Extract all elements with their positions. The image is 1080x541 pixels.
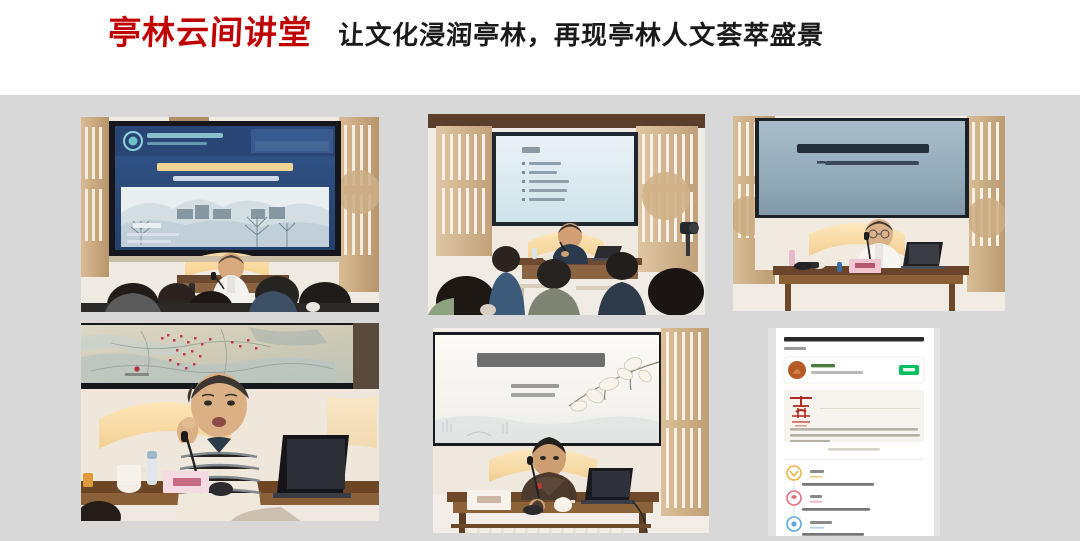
photo-illustration xyxy=(428,114,705,315)
page-tagline: 让文化浸润亭林，再现亭林人文荟萃盛景 xyxy=(337,23,824,49)
photo-gallery: 讲堂现场：大屏幕投影讲座标题，主讲人坐于讲台前，听众背影在前排 xyxy=(0,95,1080,541)
lecture-photo-speaker-closeup: 讲堂现场特写：主讲人手势讲解，身后屏幕显示江南地区古地图 xyxy=(81,323,379,521)
header-inner: 亭林云间讲堂 让文化浸润亭林，再现亭林人文荟萃盛景 xyxy=(108,16,824,49)
lecture-photo-wuyue-haipai: 讲堂现场：主讲人坐于讲台，桌上摆放笔记本电脑与名牌，大屏显示讲座标题 xyxy=(733,116,1005,311)
lecture-photo-jiangnan-ancient-town: 讲堂现场：大屏幕投影讲座标题，主讲人坐于讲台前，听众背影在前排 xyxy=(81,117,379,312)
lecture-photo-classical-poetry: 讲堂现场：主讲人坐于讲台讲解，大屏显示白底水墨玉兰花讲座封面 xyxy=(433,328,709,533)
photo-illustration xyxy=(433,328,709,533)
slide-page: 亭林云间讲堂 让文化浸润亭林，再现亭林人文荟萃盛景 讲堂现场：大屏幕投影讲座标题… xyxy=(0,0,1080,541)
photo-illustration xyxy=(81,323,379,521)
photo-illustration xyxy=(733,116,1005,311)
photo-illustration xyxy=(81,117,379,312)
page-header: 亭林云间讲堂 让文化浸润亭林，再现亭林人文荟萃盛景 xyxy=(0,0,1080,95)
wechat-article-screenshot: 微信公众号文章截图：讲堂第六课开始报名，含公众号卡片、红色书法印章与活动信息时间… xyxy=(768,328,940,536)
article-illustration xyxy=(768,328,940,536)
brand-title: 亭林云间讲堂 xyxy=(107,16,313,49)
lecture-photo-table-of-contents: 讲堂现场：屏幕显示目录页，主讲人持话筒讲解，听众背影占据前景 xyxy=(428,114,705,315)
